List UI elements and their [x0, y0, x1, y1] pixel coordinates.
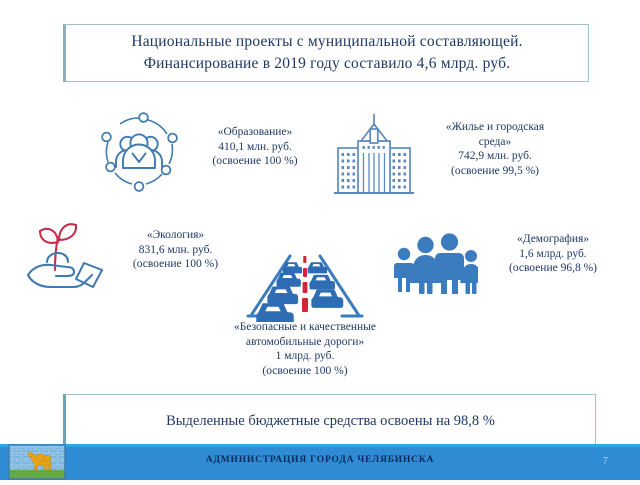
project-housing-name-line-2: среда»: [415, 135, 575, 150]
family-icon: [392, 228, 478, 294]
project-roads-text: «Безопасные и качественные автомобильные…: [190, 320, 420, 378]
footer-organization-label: АДМИНИСТРАЦИЯ ГОРОДА ЧЕЛЯБИНСКА: [0, 455, 640, 465]
people-network-icon: [96, 110, 182, 194]
project-roads-name-line-2: автомобильные дороги»: [190, 335, 420, 350]
slide-title-line-1: Национальные проекты с муниципальной сос…: [131, 31, 522, 53]
project-housing-amount: 742,9 млн. руб.: [415, 149, 575, 164]
project-demography-text: «Демография» 1,6 млрд. руб. (освоение 96…: [478, 232, 628, 276]
project-demography-amount: 1,6 млрд. руб.: [478, 247, 628, 262]
cars-road-icon: [246, 254, 364, 322]
slide-title-box: Национальные проекты с муниципальной сос…: [63, 24, 589, 82]
project-housing-execution: (освоение 99,5 %): [415, 164, 575, 179]
project-demography-execution: (освоение 96,8 %): [478, 261, 628, 276]
project-education-text: «Образование» 410,1 млн. руб. (освоение …: [190, 125, 320, 169]
project-ecology-execution: (освоение 100 %): [103, 257, 248, 272]
project-ecology-amount: 831,6 млн. руб.: [103, 243, 248, 258]
project-housing-text: «Жилье и городская среда» 742,9 млн. руб…: [415, 120, 575, 178]
project-demography-name: «Демография»: [478, 232, 628, 247]
project-roads-execution: (освоение 100 %): [190, 364, 420, 379]
project-education-amount: 410,1 млн. руб.: [190, 140, 320, 155]
project-ecology-text: «Экология» 831,6 млн. руб. (освоение 100…: [103, 228, 248, 272]
summary-box: Выделенные бюджетные средства освоены на…: [63, 394, 596, 449]
slide-title-line-2: Финансирование в 2019 году составило 4,6…: [144, 53, 511, 75]
page-number-label: 7: [602, 456, 608, 467]
project-education-name: «Образование»: [190, 125, 320, 140]
hand-sprout-icon: [14, 218, 106, 290]
project-housing-name-line-1: «Жилье и городская: [415, 120, 575, 135]
city-skyline-icon: [332, 112, 416, 196]
summary-text: Выделенные бюджетные средства освоены на…: [166, 413, 495, 430]
project-education-execution: (освоение 100 %): [190, 154, 320, 169]
project-ecology-name: «Экология»: [103, 228, 248, 243]
project-roads-amount: 1 млрд. руб.: [190, 349, 420, 364]
project-roads-name-line-1: «Безопасные и качественные: [190, 320, 420, 335]
